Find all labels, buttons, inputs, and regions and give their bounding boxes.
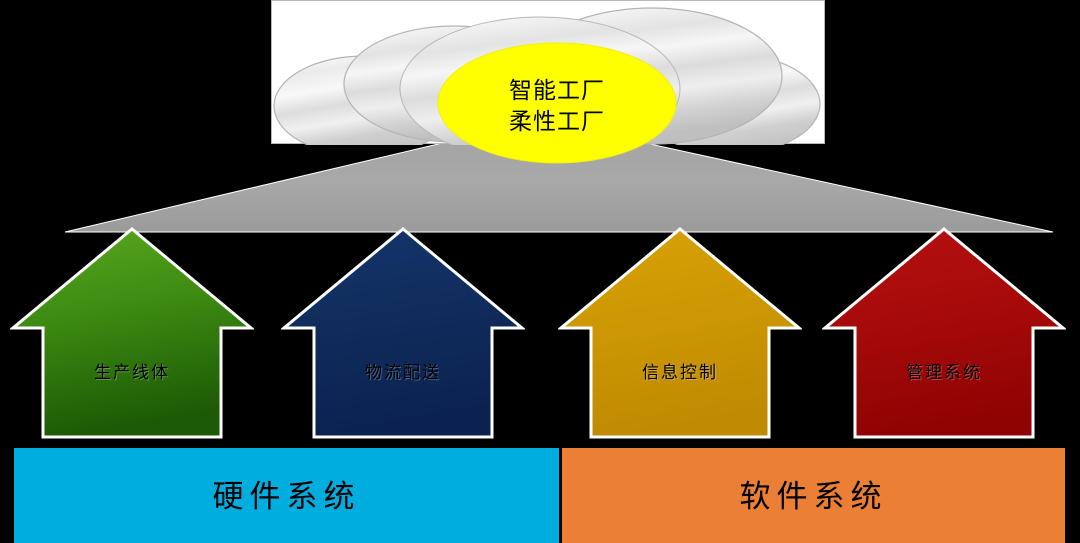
base-software-system[interactable]: 软件系统 [562, 448, 1065, 543]
pillar-management-system[interactable]: 管理系统 [822, 226, 1066, 440]
diagram-canvas: 智能工厂 柔性工厂 生产线体 [0, 0, 1080, 543]
up-arrow-icon [822, 226, 1066, 440]
base-label-hardware-system: 硬件系统 [213, 471, 361, 516]
pillar-production-line[interactable]: 生产线体 [10, 226, 254, 440]
base-label-software-system: 软件系统 [740, 471, 888, 516]
up-arrow-icon [281, 226, 525, 440]
up-arrow-icon [10, 226, 254, 440]
pillar-information-control[interactable]: 信息控制 [558, 226, 802, 440]
up-arrow-icon [558, 226, 802, 440]
ellipse-highlight [437, 42, 677, 164]
base-hardware-system[interactable]: 硬件系统 [14, 448, 559, 543]
pillar-logistics-delivery[interactable]: 物流配送 [281, 226, 525, 440]
